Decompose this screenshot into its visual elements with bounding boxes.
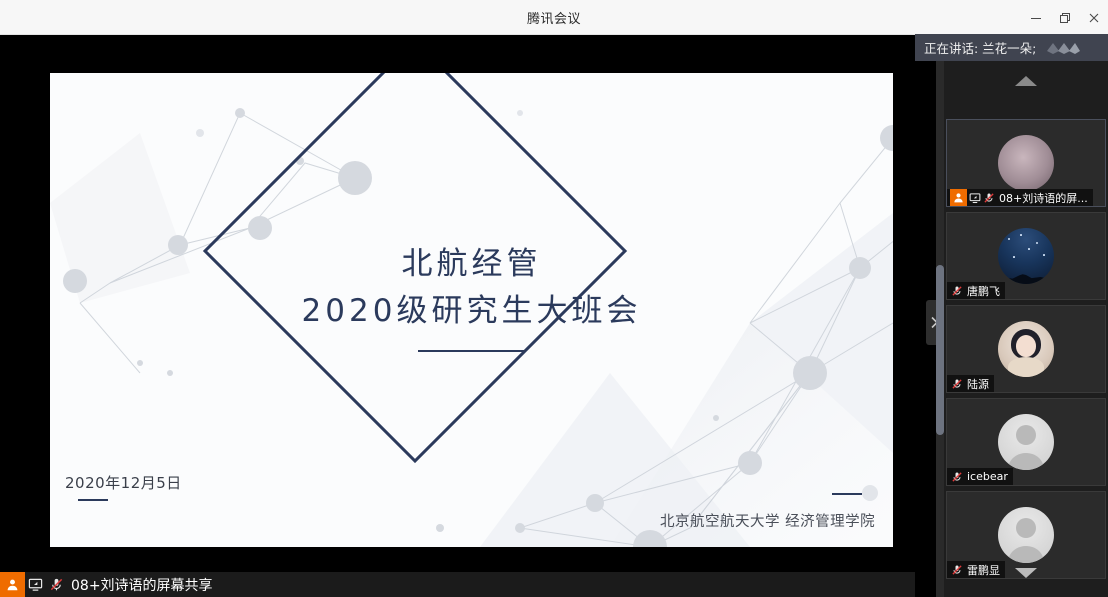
mic-muted-icon	[49, 577, 64, 592]
screen-share-icon-wrapper	[28, 577, 43, 592]
audio-wave-icon	[1046, 40, 1080, 55]
person-icon	[953, 192, 964, 203]
active-speaker-label: 正在讲话: 兰花一朵;	[924, 38, 1036, 57]
person-icon	[998, 414, 1054, 470]
slide-title-line-2: 2020级研究生大班会	[50, 287, 893, 335]
participant-tile[interactable]: icebear	[946, 398, 1106, 486]
mic-muted-badge	[983, 192, 995, 204]
rail-scroll-up-button[interactable]	[944, 71, 1108, 91]
date-underline-rule	[78, 499, 108, 501]
participant-rail-scrollbar[interactable]	[936, 35, 944, 597]
active-speaker-banner: 正在讲话: 兰花一朵;	[915, 34, 1108, 61]
mic-muted-icon	[983, 192, 995, 204]
slide-date: 2020年12月5日	[65, 472, 182, 493]
minimize-icon	[1030, 12, 1042, 24]
window-controls	[1021, 0, 1108, 35]
avatar	[998, 228, 1054, 284]
chevron-up-icon	[1015, 76, 1037, 86]
window-title-bar: 腾讯会议	[0, 0, 1108, 35]
host-badge	[950, 189, 967, 206]
title-underline-rule	[418, 350, 525, 352]
mic-muted-badge	[951, 378, 963, 390]
person-icon	[6, 578, 19, 591]
participant-rail: 正在讲话: 兰花一朵;	[944, 35, 1108, 597]
person-icon	[998, 507, 1054, 563]
mic-muted-badge	[951, 285, 963, 297]
participant-name: 陆源	[967, 376, 989, 392]
share-status-text: 08+刘诗语的屏幕共享	[71, 575, 213, 595]
close-button[interactable]	[1079, 0, 1108, 35]
chevron-down-icon	[1015, 568, 1037, 578]
participant-tile[interactable]: 陆源	[946, 305, 1106, 393]
avatar	[998, 414, 1054, 470]
participant-name: 唐鹏飞	[967, 283, 1000, 299]
restore-icon	[1059, 12, 1071, 24]
meeting-workspace: 北航经管 2020级研究生大班会 2020年12月5日 北京航空航天大学 经济管…	[0, 35, 1108, 597]
app-title: 腾讯会议	[527, 8, 581, 27]
slide-footer-organization: 北京航空航天大学 经济管理学院	[660, 510, 875, 531]
close-icon	[1088, 12, 1100, 24]
minimize-button[interactable]	[1021, 0, 1050, 35]
mic-muted-badge	[951, 471, 963, 483]
shared-screen-stage[interactable]: 北航经管 2020级研究生大班会 2020年12月5日 北京航空航天大学 经济管…	[0, 35, 915, 572]
participant-label-bar: 唐鹏飞	[947, 282, 1005, 299]
screen-share-icon	[969, 192, 981, 204]
mic-muted-icon	[951, 285, 963, 297]
mic-muted-icon	[951, 471, 963, 483]
participant-label-bar: 陆源	[947, 375, 994, 392]
scrollbar-thumb[interactable]	[936, 265, 944, 435]
avatar	[998, 321, 1054, 377]
footer-accent-rule	[832, 493, 862, 495]
screen-share-icon	[28, 577, 43, 592]
screen-share-status-bar: 08+刘诗语的屏幕共享	[0, 572, 915, 597]
restore-button[interactable]	[1050, 0, 1079, 35]
mic-muted-icon-wrapper	[49, 577, 64, 592]
slide-title-line-1: 北航经管	[50, 241, 893, 287]
rail-scroll-down-button[interactable]	[944, 563, 1108, 583]
avatar	[998, 507, 1054, 563]
participant-label-bar: 08+刘诗语的屏...	[947, 189, 1093, 206]
slide-title-block: 北航经管 2020级研究生大班会	[50, 241, 893, 352]
host-person-icon	[0, 572, 25, 597]
participant-name: 08+刘诗语的屏...	[999, 190, 1088, 206]
participant-label-bar: icebear	[947, 468, 1013, 485]
screen-share-badge	[969, 192, 981, 204]
presentation-slide: 北航经管 2020级研究生大班会 2020年12月5日 北京航空航天大学 经济管…	[50, 73, 893, 547]
avatar	[998, 135, 1054, 191]
participant-tile[interactable]: 唐鹏飞	[946, 212, 1106, 300]
participant-name: icebear	[967, 470, 1008, 483]
participant-tile[interactable]: 08+刘诗语的屏...	[946, 119, 1106, 207]
mic-muted-icon	[951, 378, 963, 390]
